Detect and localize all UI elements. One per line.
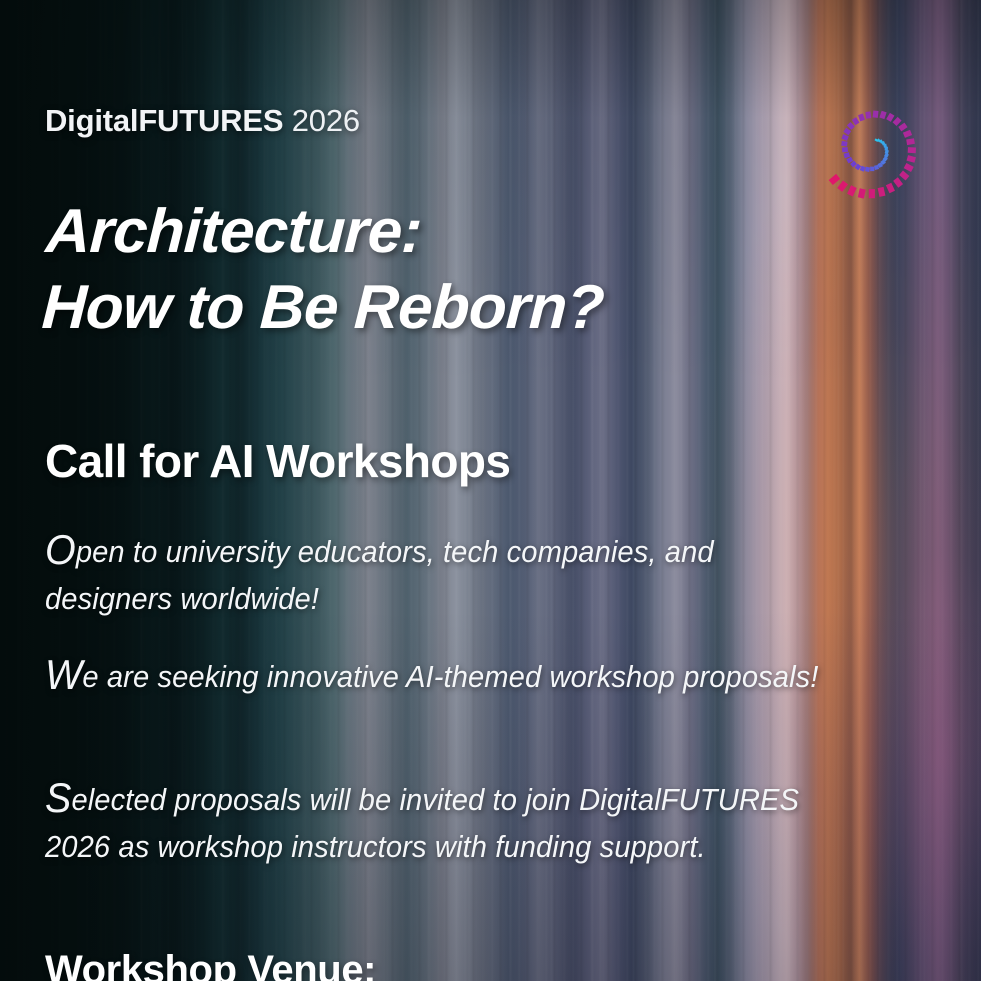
paragraph-1: Open to university educators, tech compa…: [45, 528, 900, 647]
section-heading: Call for AI Workshops: [45, 434, 510, 488]
page-title: Architecture: How to Be Reborn?: [40, 194, 610, 345]
headline-line-1: Architecture:: [44, 197, 423, 266]
paragraph-body: e are seeking innovative AI-themed works…: [82, 659, 818, 694]
paragraph-text: Selected proposals will be invited to jo…: [45, 776, 849, 871]
paragraph-text: Open to university educators, tech compa…: [45, 528, 849, 623]
poster-canvas: DigitalFUTURES 2026 Architecture: How to…: [0, 0, 981, 981]
drop-cap: O: [45, 526, 76, 573]
paragraph-body: pen to university educators, tech compan…: [45, 534, 714, 616]
paragraph-2: We are seeking innovative AI-themed work…: [45, 653, 900, 724]
paragraph-3: Selected proposals will be invited to jo…: [45, 776, 900, 895]
drop-cap: S: [45, 774, 71, 821]
headline-line-2: How to Be Reborn?: [40, 270, 606, 346]
venue-heading: Workshop Venue:: [45, 948, 376, 981]
brand-year: 2026: [292, 103, 360, 138]
paragraph-text: We are seeking innovative AI-themed work…: [45, 653, 849, 700]
brand-eyebrow: DigitalFUTURES 2026: [45, 103, 360, 139]
paragraph-body: elected proposals will be invited to joi…: [45, 782, 799, 864]
drop-cap: W: [45, 651, 82, 698]
digitalfutures-spiral-logo-icon: [812, 94, 932, 206]
brand-name: DigitalFUTURES: [45, 103, 283, 138]
